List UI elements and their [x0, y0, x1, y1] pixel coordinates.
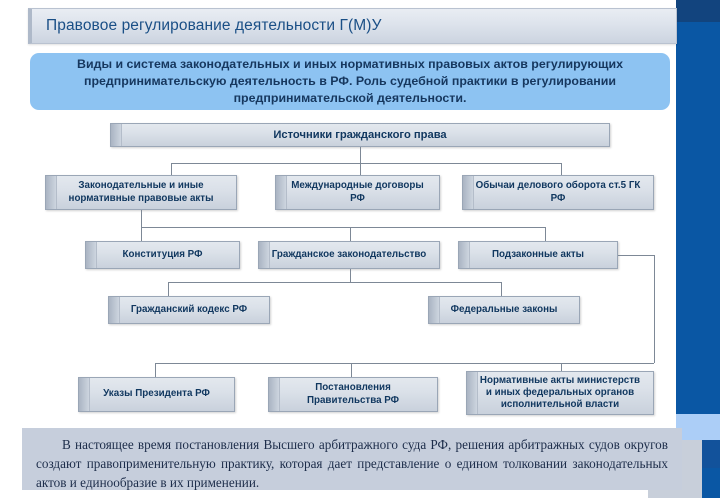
- node-label: Международные договоры РФ: [276, 180, 439, 204]
- connector-level5-bus: [155, 363, 654, 364]
- node-constitution[interactable]: Конституция РФ: [85, 241, 240, 269]
- node-legislative-acts[interactable]: Законодательные и иные нормативные право…: [45, 175, 237, 210]
- decoration-top-right-block: [676, 0, 720, 22]
- connector-level4-drop-1: [168, 282, 169, 296]
- subtitle-text: Виды и система законодательных и иных но…: [44, 56, 656, 107]
- node-label: Гражданское законодательство: [260, 249, 439, 261]
- node-government-resolutions[interactable]: Постановления Правительства РФ: [268, 377, 438, 412]
- node-civil-legislation[interactable]: Гражданское законодательство: [258, 241, 440, 269]
- node-label: Гражданский кодекс РФ: [119, 304, 259, 316]
- connector-level4-drop-2: [501, 282, 502, 296]
- footer-note-text: В настоящее время постановления Высшего …: [36, 435, 668, 492]
- node-label: Постановления Правительства РФ: [269, 382, 437, 406]
- node-international-treaties[interactable]: Международные договоры РФ: [275, 175, 440, 210]
- connector-subordinate-elbow-h: [618, 255, 654, 256]
- node-label: Источники гражданского права: [261, 128, 458, 142]
- node-label: Нормативные акты министерств и иных феде…: [467, 375, 653, 412]
- connector-subordinate-elbow-v: [654, 255, 655, 363]
- node-presidential-decrees[interactable]: Указы Президента РФ: [78, 377, 235, 412]
- node-root-sources[interactable]: Источники гражданского права: [110, 123, 610, 147]
- connector-root-stem: [360, 147, 361, 163]
- connector-level5-drop-2: [351, 363, 352, 377]
- slide-canvas: Правовое регулирование деятельности Г(М)…: [0, 0, 720, 498]
- connector-level2-drop-1: [171, 163, 172, 175]
- connector-level2-drop-3: [561, 163, 562, 175]
- connector-level5-drop-1: [155, 363, 156, 377]
- footer-note-box: В настоящее время постановления Высшего …: [22, 428, 682, 490]
- node-federal-laws[interactable]: Федеральные законы: [428, 296, 580, 324]
- node-label: Обычаи делового оборота ст.5 ГК РФ: [463, 180, 653, 204]
- decoration-right-bar: [676, 22, 720, 442]
- node-civil-code[interactable]: Гражданский кодекс РФ: [108, 296, 270, 324]
- node-label: Указы Президента РФ: [91, 388, 222, 400]
- subtitle-banner: Виды и система законодательных и иных но…: [30, 53, 670, 110]
- connector-level4-bus: [168, 282, 501, 283]
- connector-level3-bus: [141, 227, 545, 228]
- page-title: Правовое регулирование деятельности Г(М)…: [32, 17, 382, 35]
- node-label: Федеральные законы: [439, 304, 570, 316]
- node-ministry-acts[interactable]: Нормативные акты министерств и иных феде…: [466, 371, 654, 415]
- connector-level3-drop-1: [141, 227, 142, 241]
- node-label: Конституция РФ: [111, 249, 215, 261]
- node-business-customs[interactable]: Обычаи делового оборота ст.5 ГК РФ: [462, 175, 654, 210]
- node-label: Подзаконные акты: [480, 249, 596, 261]
- connector-level2-drop-2: [360, 163, 361, 175]
- connector-level2-bus: [171, 163, 561, 164]
- decoration-bottom-right-midblue: [700, 440, 720, 468]
- connector-level3-drop-2: [350, 227, 351, 241]
- node-subordinate-acts[interactable]: Подзаконные акты: [458, 241, 618, 269]
- page-title-bar: Правовое регулирование деятельности Г(М)…: [28, 8, 677, 44]
- node-label: Законодательные и иные нормативные право…: [46, 180, 236, 204]
- connector-civil-stem: [350, 269, 351, 282]
- connector-level3-drop-3: [545, 227, 546, 241]
- connector-legislative-stem: [141, 210, 142, 227]
